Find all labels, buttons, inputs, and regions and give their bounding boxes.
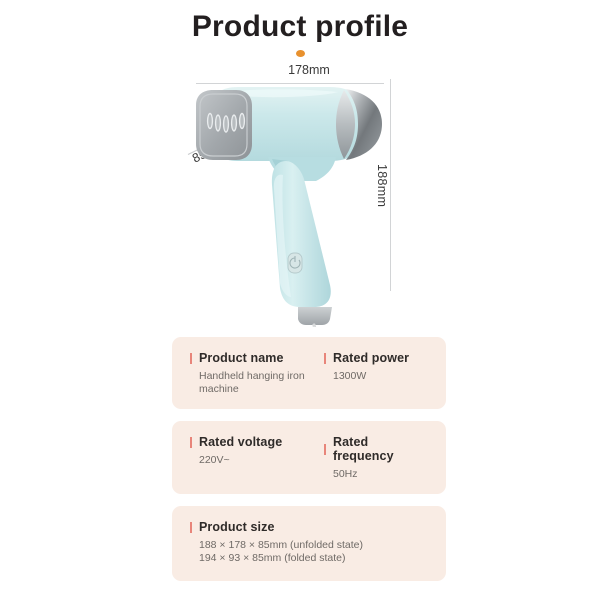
spec-label: Rated frequency [333, 435, 428, 463]
tick-marker-icon [190, 353, 192, 364]
steamer-product-image [0, 57, 600, 327]
spec-card-basic: Product name Handheld hanging iron machi… [172, 337, 446, 409]
spec-item-rated-voltage: Rated voltage 220V~ [190, 435, 324, 481]
spec-item-product-size: Product size 188 × 178 × 85mm (unfolded … [190, 520, 428, 565]
spec-value: 1300W [324, 370, 428, 383]
page-header: Product profile [0, 0, 600, 57]
spec-label: Rated voltage [199, 435, 282, 449]
spec-card-electrical: Rated voltage 220V~ Rated frequency 50Hz [172, 421, 446, 494]
tick-marker-icon [324, 444, 326, 455]
spec-value: 220V~ [190, 454, 324, 467]
tick-marker-icon [190, 437, 192, 448]
product-illustration-area: 178mm 188mm 85mm [0, 57, 600, 327]
spec-value: 188 × 178 × 85mm (unfolded state) 194 × … [190, 539, 428, 565]
spec-item-rated-power: Rated power 1300W [324, 351, 428, 396]
spec-card-size: Product size 188 × 178 × 85mm (unfolded … [172, 506, 446, 581]
tick-marker-icon [190, 522, 192, 533]
spec-label: Rated power [333, 351, 409, 365]
page-title: Product profile [0, 9, 600, 45]
spec-value: Handheld hanging iron machine [190, 370, 324, 396]
specifications-list: Product name Handheld hanging iron machi… [172, 337, 446, 593]
tick-marker-icon [324, 353, 326, 364]
spec-label: Product name [199, 351, 284, 365]
spec-value: 50Hz [324, 468, 428, 481]
handle-base [298, 307, 332, 325]
spec-label: Product size [199, 520, 275, 534]
spec-item-product-name: Product name Handheld hanging iron machi… [190, 351, 324, 396]
title-accent-dot [296, 50, 305, 57]
spec-item-rated-frequency: Rated frequency 50Hz [324, 435, 428, 481]
